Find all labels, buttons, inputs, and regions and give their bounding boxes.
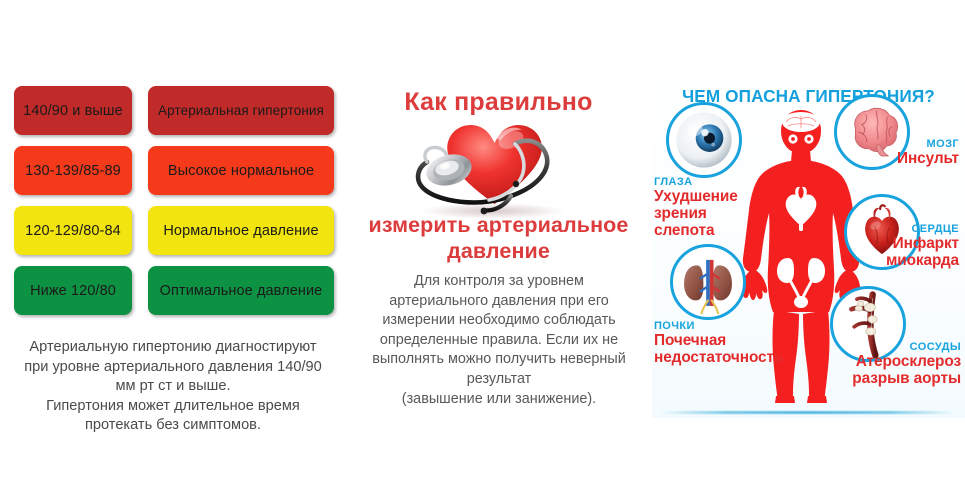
hypertension-risks-panel: ЧЕМ ОПАСНА ГИПЕРТОНИЯ? (652, 58, 965, 418)
caption-eyes-risk-2: зрения (654, 206, 738, 223)
note-line-3: мм рт ст и выше. (5, 377, 341, 397)
how-to-measure-title-bottom: измерить артериальное давление (345, 212, 652, 264)
note-line-1: Артериальную гипертонию диагностируют (5, 338, 341, 358)
caption-kidneys-risk-2: недостаточность (654, 350, 783, 367)
para-line-4: определенные правила. Если их не (349, 331, 649, 351)
caption-eyes: ГЛАЗА Ухудшение зрения слепота (654, 176, 738, 239)
heart-with-stethoscope-icon (393, 110, 608, 220)
eye-icon (669, 105, 739, 175)
eye-bubble (666, 102, 742, 178)
caption-heart-risk-2: миокарда (886, 253, 959, 270)
para-line-5: выполнять можно получить неверный (349, 350, 649, 370)
para-line-1: Для контроля за уровнем (349, 272, 649, 292)
caption-eyes-risk-3: слепота (654, 223, 738, 240)
caption-kidneys-risk-1: Почечная (654, 333, 783, 350)
bp-value-badge-hypertension: 140/90 и выше (14, 86, 132, 135)
caption-brain: МОЗГ Инсульт (897, 138, 959, 168)
bp-label-badge-hypertension: Артериальная гипертония (148, 86, 334, 135)
kidneys-bubble (670, 244, 746, 320)
bp-classification-note: Артериальную гипертонию диагностируют пр… (5, 338, 341, 436)
bp-label-badge-optimal: Оптимальное давление (148, 266, 334, 315)
caption-eyes-risk-1: Ухудшение (654, 189, 738, 206)
right-panel-underline (660, 411, 956, 414)
caption-vessels-risk-2: разрыв аорты (852, 371, 961, 388)
bp-row-hypertension: 140/90 и выше Артериальная гипертония (14, 86, 334, 135)
bp-value-badge-normal: 120-129/80-84 (14, 206, 132, 255)
bp-label-badge-high-normal: Высокое нормальное (148, 146, 334, 195)
kidneys-icon (673, 247, 743, 317)
caption-vessels-risk-1: Атеросклероз (852, 354, 961, 371)
note-line-4: Гипертония может длительное время (5, 397, 341, 417)
title-bottom-line-2: давление (345, 238, 652, 264)
caption-heart: СЕРДЦЕ Инфаркт миокарда (886, 223, 959, 270)
bp-row-normal: 120-129/80-84 Нормальное давление (14, 206, 334, 255)
caption-kidneys: ПОЧКИ Почечная недостаточность (654, 320, 783, 367)
para-line-3: измерении необходимо соблюдать (349, 311, 649, 331)
caption-vessels: СОСУДЫ Атеросклероз разрыв аорты (852, 341, 961, 388)
infographic-canvas: 140/90 и выше Артериальная гипертония 13… (0, 0, 965, 500)
caption-brain-risk-1: Инсульт (897, 151, 959, 168)
bp-badge-grid: 140/90 и выше Артериальная гипертония 13… (14, 86, 334, 326)
note-line-2: при уровне артериального давления 140/90 (5, 358, 341, 378)
bp-value-badge-high-normal: 130-139/85-89 (14, 146, 132, 195)
title-bottom-line-1: измерить артериальное (345, 212, 652, 238)
bp-value-badge-optimal: Ниже 120/80 (14, 266, 132, 315)
how-to-measure-paragraph: Для контроля за уровнем артериального да… (349, 272, 649, 409)
para-line-2: артериального давления при его (349, 292, 649, 312)
caption-heart-risk-1: Инфаркт (886, 236, 959, 253)
bp-classification-panel: 140/90 и выше Артериальная гипертония 13… (0, 0, 345, 500)
para-line-7: (завышение или занижение). (349, 390, 649, 410)
how-to-measure-panel: Как правильно (345, 0, 652, 500)
note-line-5: протекать без симптомов. (5, 416, 341, 436)
para-line-6: результат (349, 370, 649, 390)
bp-row-optimal: Ниже 120/80 Оптимальное давление (14, 266, 334, 315)
bp-row-high-normal: 130-139/85-89 Высокое нормальное (14, 146, 334, 195)
bp-label-badge-normal: Нормальное давление (148, 206, 334, 255)
